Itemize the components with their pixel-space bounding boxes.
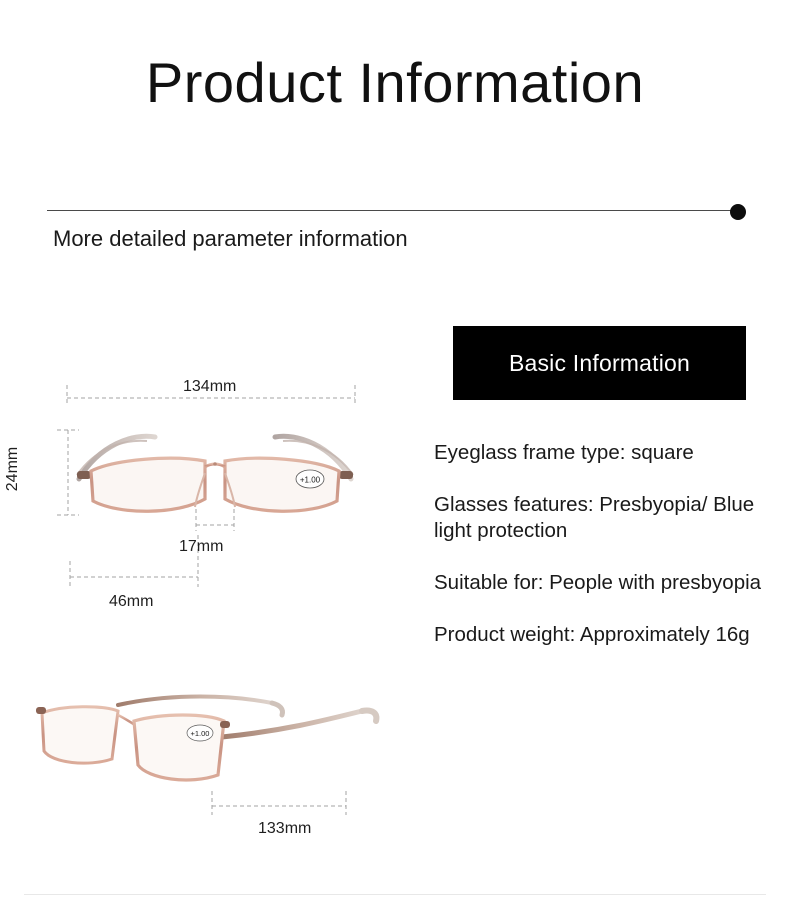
eyeglasses-angled-illustration: +1.00: [22, 655, 412, 850]
bottom-divider: [24, 894, 766, 895]
dimension-bridge-width: 17mm: [179, 538, 223, 556]
product-information-page: Product Information More detailed parame…: [0, 0, 790, 902]
lens-marking-front: +1.00: [300, 476, 321, 485]
dimension-temple-length: 133mm: [258, 820, 311, 838]
eyeglasses-angled-view: +1.00: [22, 655, 412, 850]
basic-information-label: Basic Information: [509, 350, 690, 377]
spec-frame-type: Eyeglass frame type: square: [434, 440, 774, 466]
dimension-lens-height: 24mm: [4, 447, 22, 491]
basic-information-badge: Basic Information: [453, 326, 746, 400]
page-subtitle: More detailed parameter information: [53, 226, 408, 252]
lens-marking-angled: +1.00: [191, 729, 210, 738]
specification-list: Eyeglass frame type: square Glasses feat…: [434, 440, 774, 648]
spec-product-weight: Product weight: Approximately 16g: [434, 622, 774, 648]
spec-features: Glasses features: Presbyopia/ Blue light…: [434, 492, 774, 544]
filled-circle-icon: [730, 204, 746, 220]
eyeglasses-front-view: +1.00: [55, 375, 375, 605]
spec-suitable-for: Suitable for: People with presbyopia: [434, 570, 774, 596]
dimension-lens-width: 46mm: [109, 593, 153, 611]
divider-line: [47, 210, 731, 211]
eyeglasses-front-illustration: +1.00: [55, 375, 375, 605]
header-divider: [47, 204, 746, 222]
dimension-total-width: 134mm: [183, 378, 236, 396]
page-title: Product Information: [0, 52, 790, 114]
